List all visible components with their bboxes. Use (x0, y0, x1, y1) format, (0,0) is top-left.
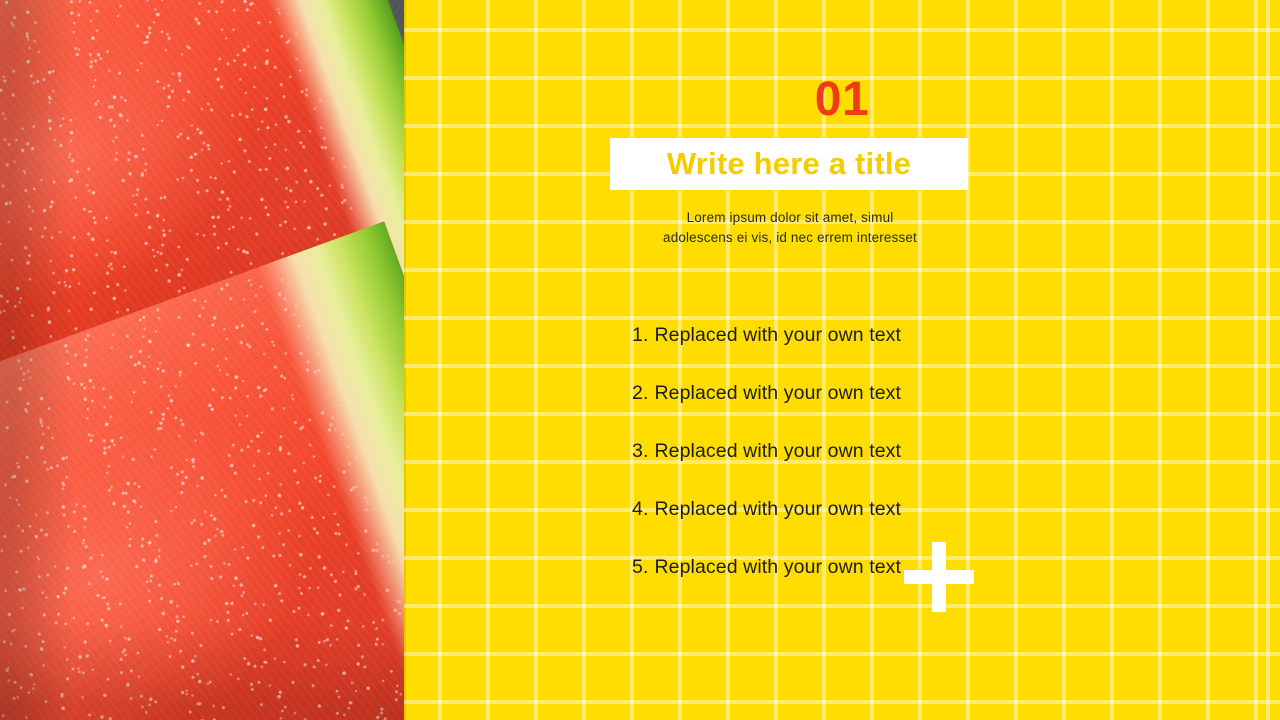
plus-mark-icon (904, 542, 974, 612)
list-item-number: 4. (632, 498, 648, 520)
bullet-list: 1.Replaced with your own text 2.Replaced… (632, 326, 1052, 616)
content-panel: 01 Write here a title Lorem ipsum dolor … (404, 0, 1280, 720)
list-item-label: Replaced with your own text (654, 324, 901, 346)
list-item-number: 2. (632, 382, 648, 404)
title-bar: Write here a title (610, 138, 968, 190)
subtitle-line-1: Lorem ipsum dolor sit amet, simul (590, 208, 990, 228)
list-item[interactable]: 4.Replaced with your own text (632, 500, 1052, 520)
list-item[interactable]: 5.Replaced with your own text (632, 558, 1052, 578)
list-item[interactable]: 1.Replaced with your own text (632, 326, 1052, 346)
list-item-number: 5. (632, 556, 648, 578)
page-title: Write here a title (667, 146, 911, 182)
list-item[interactable]: 2.Replaced with your own text (632, 384, 1052, 404)
subtitle-line-2: adolescens ei vis, id nec errem interess… (590, 228, 990, 248)
list-item-label: Replaced with your own text (654, 440, 901, 462)
list-item-label: Replaced with your own text (654, 382, 901, 404)
list-item-number: 3. (632, 440, 648, 462)
left-watermelon-photo (0, 0, 404, 720)
section-number: 01 (404, 76, 1280, 124)
slide-root: 01 Write here a title Lorem ipsum dolor … (0, 0, 1280, 720)
list-item[interactable]: 3.Replaced with your own text (632, 442, 1052, 462)
list-item-number: 1. (632, 324, 648, 346)
list-item-label: Replaced with your own text (654, 498, 901, 520)
list-item-label: Replaced with your own text (654, 556, 901, 578)
subtitle: Lorem ipsum dolor sit amet, simul adoles… (590, 208, 990, 247)
plus-vertical-bar (932, 542, 946, 612)
